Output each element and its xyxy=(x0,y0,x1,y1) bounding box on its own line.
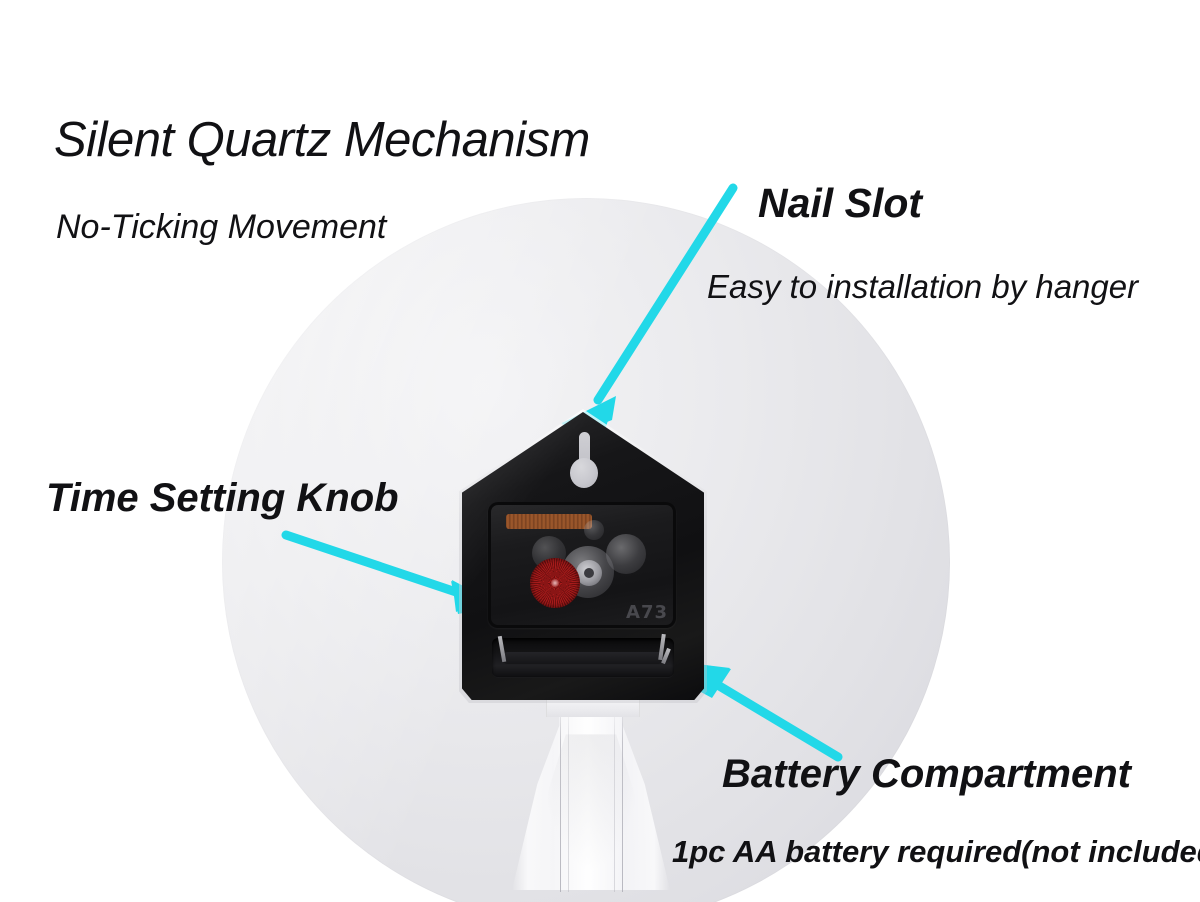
callout-title-nail-slot: Nail Slot xyxy=(758,180,922,227)
movement-imprint: A73 xyxy=(626,604,668,622)
stand-edge-right-overlay xyxy=(622,700,623,892)
product-infographic: A73 Silent xyxy=(0,0,1200,902)
page-title: Silent Quartz Mechanism xyxy=(54,112,590,168)
callout-description-battery-compartment: 1pc AA battery required(not included) xyxy=(672,834,1200,870)
quartz-movement-housing: A73 xyxy=(462,412,704,700)
acrylic-stand-overlay xyxy=(498,694,684,902)
center-shaft-dot xyxy=(584,568,594,578)
nail-slot-keyhole xyxy=(570,432,598,488)
callout-description-nail-slot: Easy to installation by hanger xyxy=(707,268,1138,306)
page-subtitle: No-Ticking Movement xyxy=(56,208,386,247)
callout-title-battery-compartment: Battery Compartment xyxy=(722,752,1131,797)
copper-coil xyxy=(506,514,592,529)
stand-edge-left-inner-overlay xyxy=(568,700,569,892)
nail-slot-bulb xyxy=(570,458,598,488)
battery-compartment-bay[interactable] xyxy=(492,638,674,678)
stand-edge-left-overlay xyxy=(560,700,561,892)
gear-tiny-top xyxy=(584,520,604,540)
time-setting-knob[interactable] xyxy=(530,558,580,608)
movement-gear-window: A73 xyxy=(488,502,676,628)
battery-bay-groove xyxy=(502,652,664,664)
callout-title-time-setting-knob: Time Setting Knob xyxy=(46,476,399,521)
battery-contact-left xyxy=(498,636,506,662)
stand-edge-right-inner-overlay xyxy=(614,700,615,892)
